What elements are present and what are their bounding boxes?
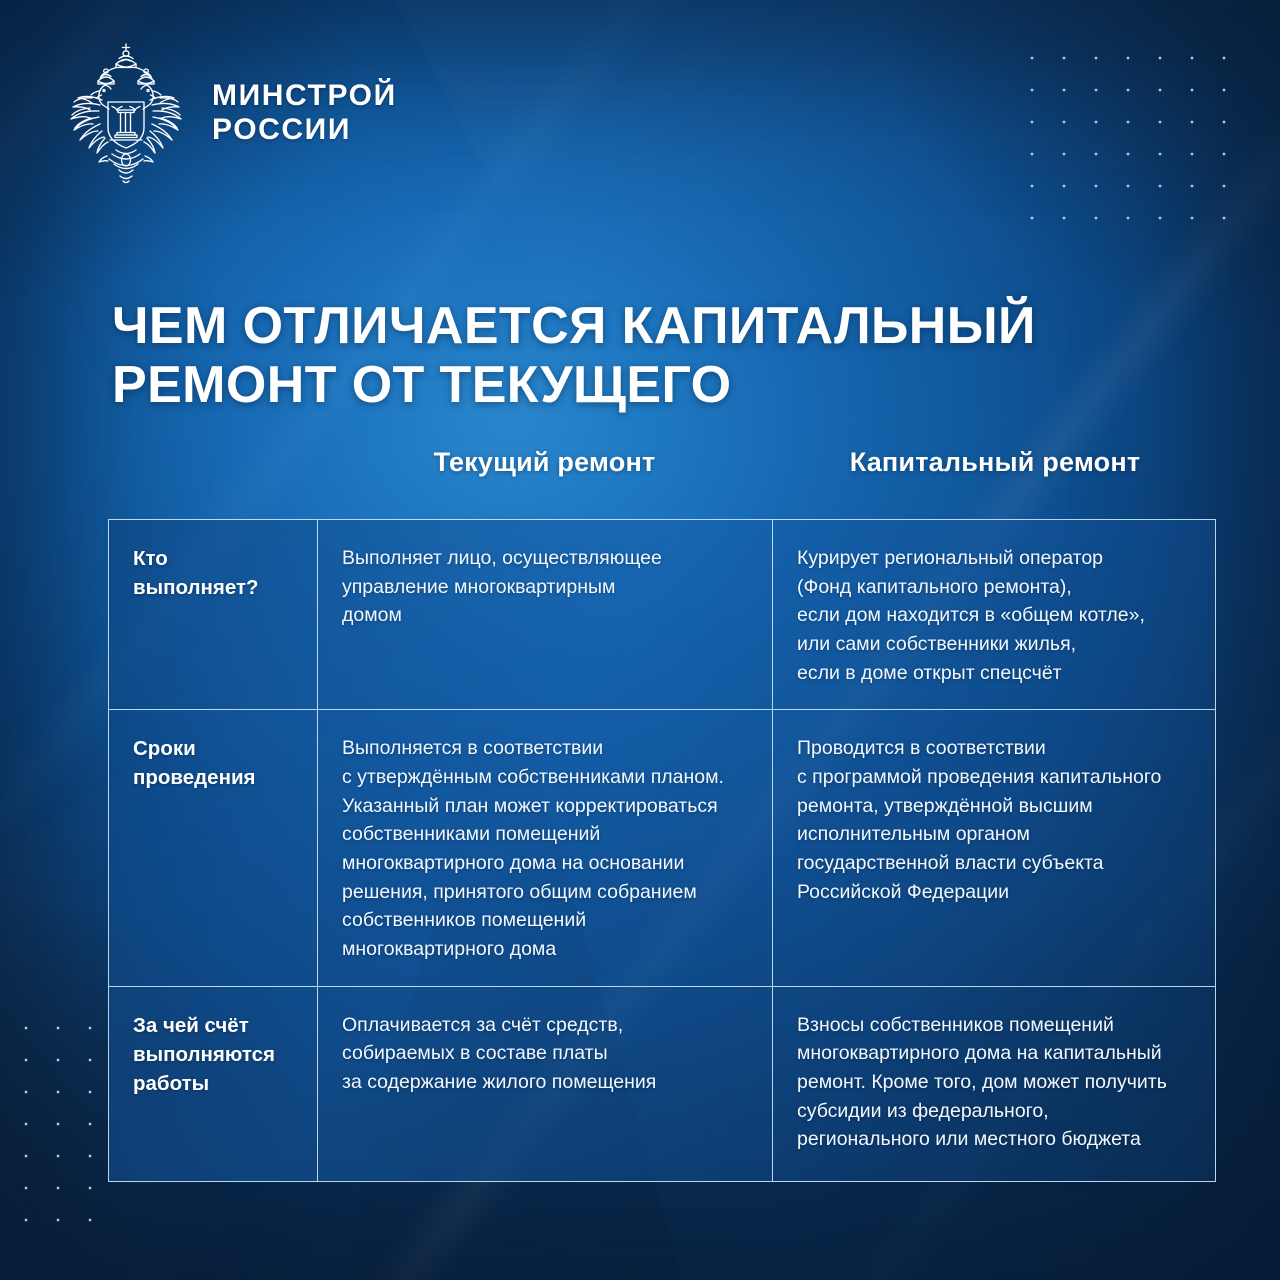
table-column-headers: Текущий ремонт Капитальный ремонт [108,447,1218,497]
cell-current-repair: Оплачивается за счёт средств, собираемых… [318,987,773,1181]
column-header-capital-repair: Капитальный ремонт [772,447,1218,497]
cell-capital-repair: Взносы собственников помещений многоквар… [773,987,1215,1181]
infographic-poster: МИНСТРОЙ РОССИИ ЧЕМ ОТЛИЧАЕТСЯ КАПИТАЛЬН… [0,0,1280,1280]
column-header-current-repair: Текущий ремонт [317,447,772,497]
comparison-table: Кто выполняет? Выполняет лицо, осуществл… [108,519,1216,1182]
cell-capital-repair: Проводится в соответствии с программой п… [773,710,1215,985]
russian-coat-of-arms-icon [62,38,190,188]
brand-name: МИНСТРОЙ РОССИИ [212,79,397,147]
row-label: Сроки проведения [109,710,318,985]
row-label: Кто выполняет? [109,520,318,709]
cell-current-repair: Выполняется в соответствии с утверждённы… [318,710,773,985]
row-label: За чей счёт выполняются работы [109,987,318,1181]
brand-logo: МИНСТРОЙ РОССИИ [62,38,397,188]
table-row: Сроки проведения Выполняется в соответст… [109,710,1215,986]
table-row: За чей счёт выполняются работы Оплачивае… [109,987,1215,1181]
header-spacer [108,447,317,497]
table-row: Кто выполняет? Выполняет лицо, осуществл… [109,520,1215,710]
page-title: ЧЕМ ОТЛИЧАЕТСЯ КАПИТАЛЬНЫЙ РЕМОНТ ОТ ТЕК… [112,297,1232,415]
cell-current-repair: Выполняет лицо, осуществляющее управлени… [318,520,773,709]
cell-capital-repair: Курирует региональный оператор (Фонд кап… [773,520,1215,709]
